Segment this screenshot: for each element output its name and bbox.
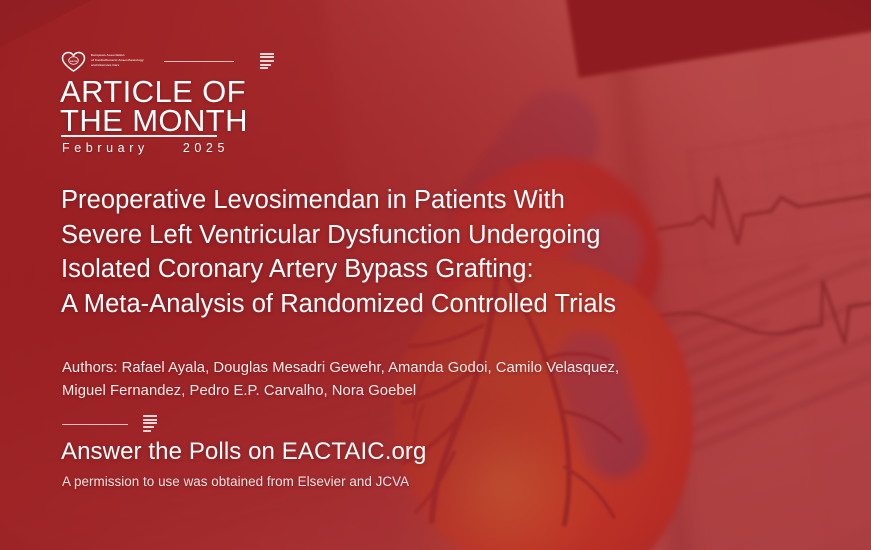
logo-divider-rule [164,61,234,62]
article-title-line-3: Isolated Coronary Artery Bypass Grafting… [61,252,616,287]
article-authors: Authors: Rafael Ayala, Douglas Mesadri G… [62,357,619,403]
page-title-line-1: ARTICLE OF [60,77,248,106]
heart-icon: eacta [61,51,86,72]
article-title-line-4: A Meta-Analysis of Randomized Controlled… [61,287,616,322]
page-title: ARTICLE OF THE MONTH [60,77,248,135]
issue-date: February2025 [62,141,229,155]
eacta-logo[interactable]: eacta European Association of Cardiothor… [61,51,144,72]
org-name: European Association of Cardiothoracic A… [91,54,144,68]
stacked-lines-icon[interactable] [260,53,274,69]
article-authors-line-2: Miguel Fernandez, Pedro E.P. Carvalho, N… [62,380,619,403]
slide-content: eacta European Association of Cardiothor… [0,0,871,550]
article-title-line-2: Severe Left Ventricular Dysfunction Unde… [61,218,616,253]
page-title-line-2: THE MONTH [60,106,248,135]
permission-note: A permission to use was obtained from El… [62,473,409,491]
article-title-line-1: Preoperative Levosimendan in Patients Wi… [61,183,616,218]
logo-row: eacta European Association of Cardiothor… [61,48,274,74]
article-authors-line-1: Authors: Rafael Ayala, Douglas Mesadri G… [62,357,619,380]
org-name-line-3: and Intensive Care [91,64,144,68]
footer-divider-rule [62,424,128,425]
issue-year: 2025 [183,141,229,155]
logo-mark-text: eacta [70,58,78,62]
poll-call-to-action[interactable]: Answer the Polls on EACTAIC.org [61,437,426,467]
article-title: Preoperative Levosimendan in Patients Wi… [61,183,616,321]
date-divider-rule [61,135,217,137]
article-of-the-month-slide: eacta European Association of Cardiothor… [0,0,871,550]
issue-month: February [62,141,149,155]
footer-stacked-lines-icon[interactable] [143,415,157,432]
